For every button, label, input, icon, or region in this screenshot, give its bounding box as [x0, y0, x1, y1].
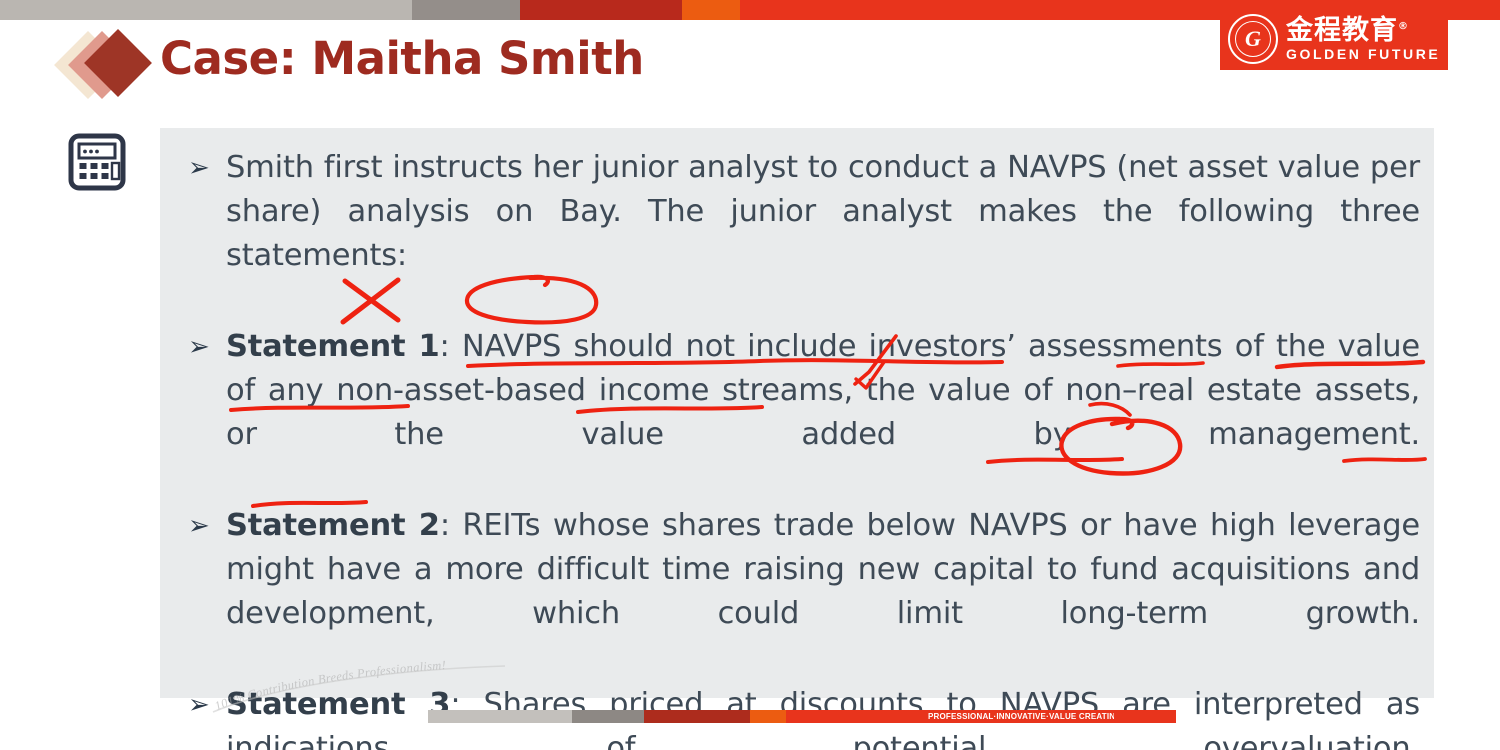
slide-root: G 金程教育® GOLDEN FUTURE Case: Maitha Smith…: [0, 0, 1500, 750]
page-title: Case: Maitha Smith: [160, 32, 644, 85]
botbar-seg-tail-red: [1114, 710, 1176, 723]
bullet-intro-text: Smith first instructs her junior analyst…: [226, 146, 1420, 323]
botbar-seg-gray: [572, 710, 644, 723]
statement-2-label: Statement 2: [226, 508, 440, 543]
registered-mark: ®: [1398, 21, 1409, 32]
botbar-seg-orange: [750, 710, 786, 723]
bullet-marker-icon: ➢: [174, 504, 226, 538]
topbar-seg-light-gray: [0, 0, 412, 20]
topbar-seg-orange: [682, 0, 740, 20]
bullet-statement-2-text: Statement 2: REITs whose shares trade be…: [226, 504, 1420, 681]
botbar-seg-dark-red: [644, 710, 750, 723]
bullet-statement-1-text: Statement 1: NAVPS should not include in…: [226, 325, 1420, 502]
bullet-intro: ➢ Smith first instructs her junior analy…: [174, 146, 1420, 323]
brand-name-cn: 金程教育®: [1286, 17, 1440, 44]
watermark-text: 101% Contribution Breeds Professionalism…: [213, 660, 447, 713]
brand-logo-text: 金程教育® GOLDEN FUTURE: [1286, 17, 1440, 61]
botbar-seg-light-gray: [428, 710, 572, 723]
bullet-marker-icon: ➢: [174, 325, 226, 359]
brand-emblem-icon: G: [1228, 14, 1278, 64]
bottom-bar-caption: PROFESSIONAL·INNOVATIVE·VALUE CREATING: [928, 710, 1122, 723]
brand-name-cn-text: 金程教育: [1286, 15, 1398, 46]
topbar-seg-dark-red: [520, 0, 682, 20]
bullet-statement-2: ➢ Statement 2: REITs whose shares trade …: [174, 504, 1420, 681]
bullet-intro-body: Smith first instructs her junior analyst…: [226, 150, 1420, 318]
brand-name-en: GOLDEN FUTURE: [1286, 47, 1440, 61]
bullet-marker-icon: ➢: [174, 146, 226, 180]
content-panel: ➢ Smith first instructs her junior analy…: [160, 128, 1434, 698]
bullet-statement-1: ➢ Statement 1: NAVPS should not include …: [174, 325, 1420, 502]
calculator-icon: [68, 133, 126, 191]
statement-1-label: Statement 1: [226, 329, 440, 364]
emblem-glyph: G: [1245, 28, 1261, 50]
topbar-seg-gray: [412, 0, 520, 20]
diamond-bullet-icon: [62, 28, 162, 104]
brand-logo: G 金程教育® GOLDEN FUTURE: [1220, 8, 1448, 70]
